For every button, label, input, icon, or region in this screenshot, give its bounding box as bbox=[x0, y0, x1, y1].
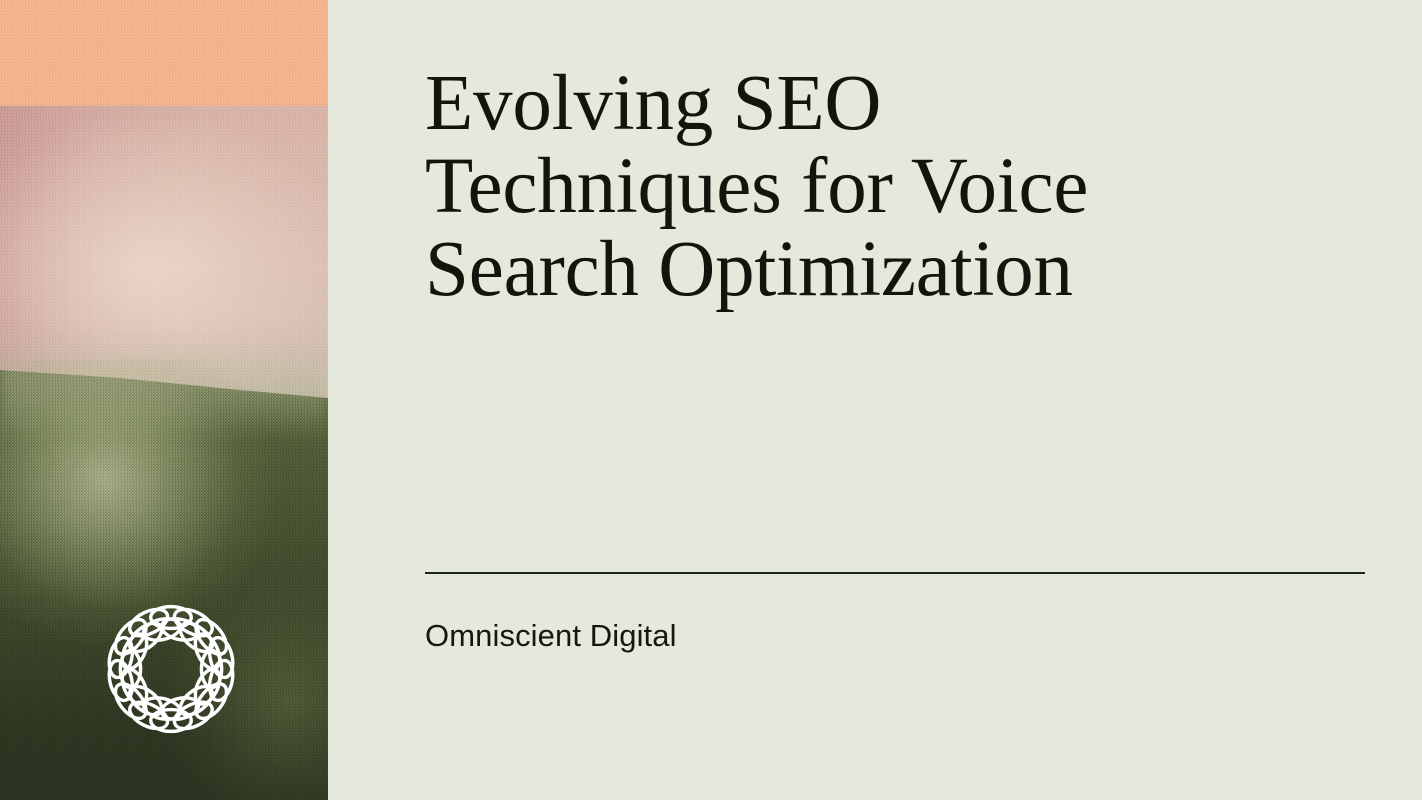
page-title-line-3: Search Optimization bbox=[425, 226, 1073, 313]
page-title-line-1: Evolving SEO bbox=[425, 60, 881, 147]
artwork-panel bbox=[0, 0, 328, 800]
page-title: Evolving SEOTechniques for VoiceSearch O… bbox=[425, 62, 1225, 311]
slide-content: Evolving SEOTechniques for VoiceSearch O… bbox=[425, 0, 1365, 800]
byline-text: Omniscient Digital bbox=[425, 616, 677, 656]
horizontal-divider bbox=[425, 572, 1365, 574]
omniscient-digital-logo-icon bbox=[93, 591, 249, 747]
title-slide: Evolving SEOTechniques for VoiceSearch O… bbox=[0, 0, 1422, 800]
page-title-line-2: Techniques for Voice bbox=[425, 143, 1088, 230]
